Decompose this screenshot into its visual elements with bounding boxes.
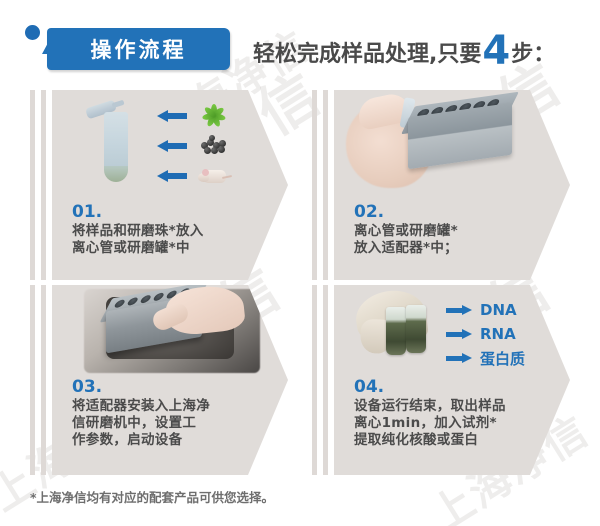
step-1-number: 01. [72,202,102,222]
step-card-1-body: 01. 将样品和研磨珠*放入 离心管或研磨罐*中 [52,90,288,280]
sample-vial [406,305,426,353]
step-1-caption: 将样品和研磨珠*放入 离心管或研磨罐*中 [72,223,204,257]
output-label-protein: 蛋白质 [480,348,525,369]
step-card-3: 03. 将适配器安装入上海净 信研磨机中，设置工 作参数，启动设备 [30,285,288,475]
step-2-caption-line: 放入适配器*中； [354,240,458,257]
step-3-caption-line: 将适配器安装入上海净 [72,398,210,415]
arrow-left-icon [157,140,187,150]
tagline-step-count: 4 [482,31,510,71]
step-card-4: DNA RNA 蛋白质 04. 设备运行结束，取出样品 离心1min，加入试剂*… [312,285,570,475]
sample-vial [386,307,406,355]
steps-grid: 01. 将样品和研磨珠*放入 离心管或研磨罐*中 02. [0,86,600,482]
grinder-loading-photo [84,289,260,373]
mouse-icon [198,165,230,185]
output-labels: DNA RNA 蛋白质 [446,299,558,371]
sample-row-animal [157,162,277,188]
step-card-2: 02. 离心管或研磨罐* 放入适配器*中； [312,90,570,280]
footnote: *上海净信均有对应的配套产品可供您选择。 [30,487,274,506]
adapter-loading-photo [346,96,524,196]
step-card-2-body: 02. 离心管或研磨罐* 放入适配器*中； [334,90,570,280]
card-stripe [41,285,46,475]
output-row-rna: RNA [446,323,558,345]
sample-row-plant [157,102,277,128]
step-2-caption-line: 离心管或研磨罐* [354,223,458,240]
step-1-caption-line: 将样品和研磨珠*放入 [72,223,204,240]
step-4-number: 04. [354,377,384,397]
step-4-caption-line: 设备运行结束，取出样品 [354,398,506,415]
output-label-dna: DNA [480,301,517,319]
card-stripe [312,285,317,475]
step-3-caption-line: 作参数，启动设备 [72,432,210,449]
card-stripe [41,90,46,280]
tagline-suffix: 步： [511,36,555,68]
arrow-right-icon [446,329,472,339]
step-2-caption: 离心管或研磨罐* 放入适配器*中； [354,223,458,257]
sample-vials-photo [356,291,442,371]
arrow-left-icon [157,170,187,180]
step-card-3-body: 03. 将适配器安装入上海净 信研磨机中，设置工 作参数，启动设备 [52,285,288,475]
step-4-caption: 设备运行结束，取出样品 离心1min，加入试剂* 提取纯化核酸或蛋白 [354,398,506,449]
step-3-caption-line: 信研磨机中，设置工 [72,415,210,432]
plant-leaf-icon [201,102,227,128]
centrifuge-tube-icon [100,104,134,184]
output-label-rna: RNA [480,325,516,343]
section-title-banner: 操作流程 [47,28,230,70]
sample-row-beads [157,132,277,158]
step-4-caption-line: 离心1min，加入试剂* [354,415,506,432]
arrow-left-icon [157,110,187,120]
step-3-caption: 将适配器安装入上海净 信研磨机中，设置工 作参数，启动设备 [72,398,210,449]
step-card-4-body: DNA RNA 蛋白质 04. 设备运行结束，取出样品 离心1min，加入试剂*… [334,285,570,475]
output-row-protein: 蛋白质 [446,347,558,369]
card-stripe [30,90,35,280]
card-stripe [323,90,328,280]
section-title-label: 操作流程 [47,28,230,70]
tagline-prefix: 轻松完成样品处理,只要 [253,36,481,68]
step-4-caption-line: 提取纯化核酸或蛋白 [354,432,506,449]
step-2-number: 02. [354,202,384,222]
tube-body [104,112,128,168]
step-1-caption-line: 离心管或研磨罐*中 [72,240,204,257]
output-row-dna: DNA [446,299,558,321]
step-3-number: 03. [72,377,102,397]
arrow-right-icon [446,353,472,363]
step-card-1: 01. 将样品和研磨珠*放入 离心管或研磨罐*中 [30,90,288,280]
card-stripe [30,285,35,475]
card-stripe [323,285,328,475]
tube-tip [104,166,128,182]
arrow-right-icon [446,305,472,315]
tagline: 轻松完成样品处理,只要 4 步： [253,28,555,76]
sample-sources [157,102,277,188]
card-stripe [312,90,317,280]
grinding-beads-icon [200,135,228,155]
page-header: 操作流程 轻松完成样品处理,只要 4 步： [0,0,600,86]
banner-dot-decoration [25,25,40,40]
